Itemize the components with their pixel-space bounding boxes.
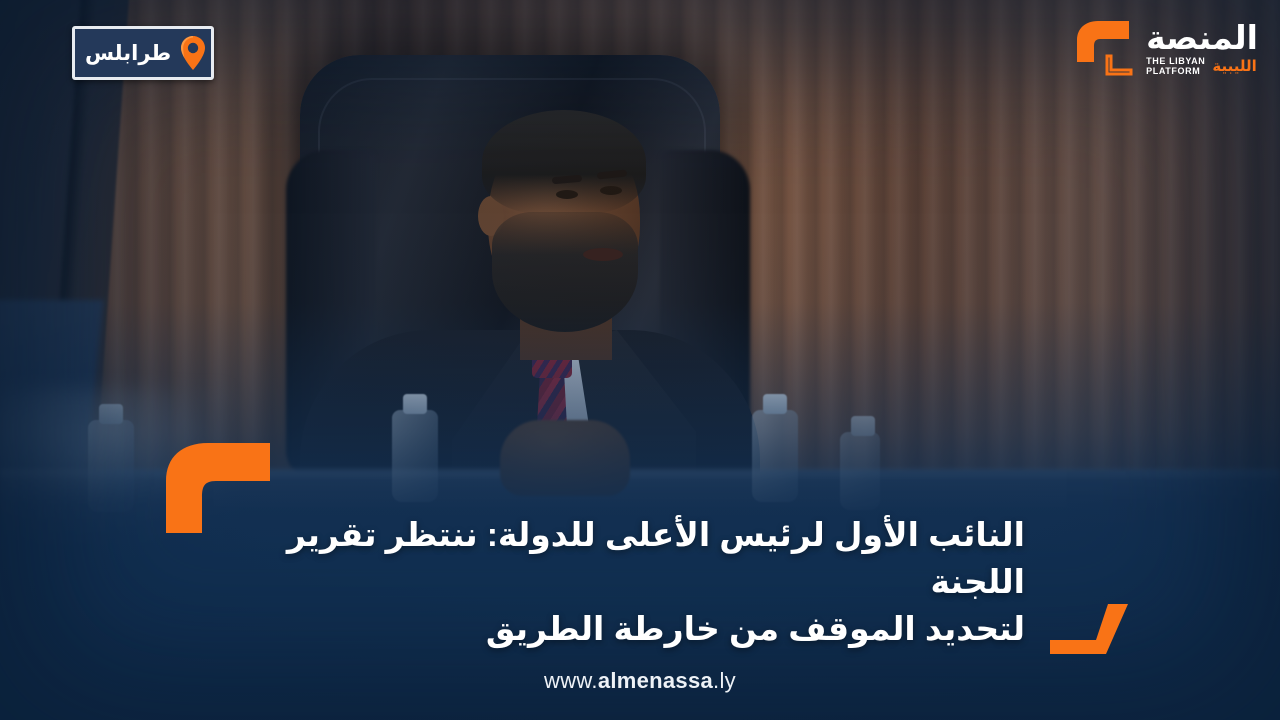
news-card: طرابلس المنصة الليبية THE LIBYAN PLATFOR… xyxy=(0,0,1280,720)
headline-line-2: لتحديد الموقف من خارطة الطريق xyxy=(250,606,1025,653)
brand-subtitle-arabic: الليبية xyxy=(1212,59,1256,74)
orange-corner-accent-icon xyxy=(1046,602,1140,664)
brand-subtitle-row: الليبية THE LIBYAN PLATFORM xyxy=(1146,56,1257,76)
url-prefix: www. xyxy=(544,668,598,693)
location-badge-label: طرابلس xyxy=(85,43,171,64)
brand-name-english: THE LIBYAN PLATFORM xyxy=(1146,56,1205,76)
brand-text-block: المنصة الليبية THE LIBYAN PLATFORM xyxy=(1146,22,1258,77)
url-suffix: .ly xyxy=(713,668,736,693)
headline-line-1: النائب الأول لرئيس الأعلى للدولة: ننتظر … xyxy=(250,512,1025,606)
brand-en-line1: THE LIBYAN xyxy=(1146,56,1205,66)
headline: النائب الأول لرئيس الأعلى للدولة: ننتظر … xyxy=(250,512,1025,653)
url-name: almenassa xyxy=(598,668,713,693)
map-pin-icon xyxy=(179,35,207,71)
brand-en-line2: PLATFORM xyxy=(1146,66,1200,76)
brand-logo: المنصة الليبية THE LIBYAN PLATFORM xyxy=(1071,18,1258,80)
brand-name-arabic: المنصة xyxy=(1146,22,1258,53)
brand-hook-mark-icon xyxy=(1071,18,1139,80)
site-url[interactable]: www.almenassa.ly xyxy=(0,668,1280,694)
location-badge: طرابلس xyxy=(72,26,214,80)
